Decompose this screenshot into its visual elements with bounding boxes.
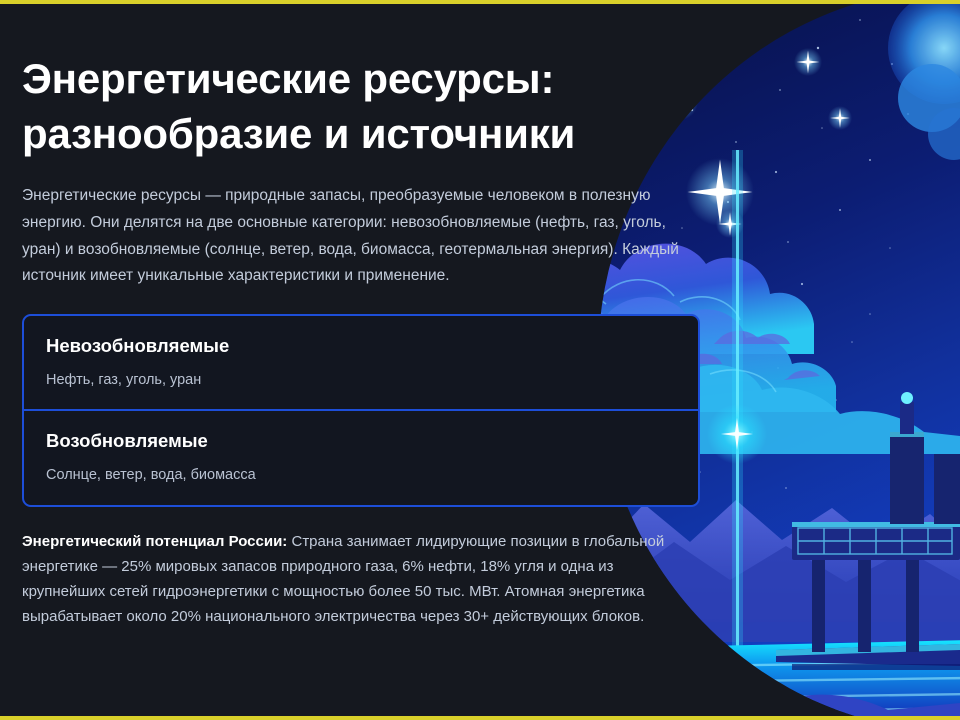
russia-potential-note: Энергетический потенциал России: Страна … <box>22 529 690 630</box>
category-items: Солнце, ветер, вода, биомасса <box>46 465 676 485</box>
content-column: Энергетические ресурсы: разнообразие и и… <box>22 0 712 720</box>
categories-card: Невозобновляемые Нефть, газ, уголь, уран… <box>22 314 700 507</box>
slide-root: Энергетические ресурсы: разнообразие и и… <box>0 0 960 720</box>
intro-paragraph: Энергетические ресурсы — природные запас… <box>22 183 686 290</box>
category-row-nonrenewable[interactable]: Невозобновляемые Нефть, газ, уголь, уран <box>24 316 698 409</box>
russia-potential-label: Энергетический потенциал России: <box>22 533 287 550</box>
bottom-accent-rule <box>0 716 960 720</box>
category-items: Нефть, газ, уголь, уран <box>46 370 676 390</box>
category-row-renewable[interactable]: Возобновляемые Солнце, ветер, вода, биом… <box>24 409 698 504</box>
category-heading: Невозобновляемые <box>46 335 676 357</box>
category-heading: Возобновляемые <box>46 430 676 452</box>
page-title: Энергетические ресурсы: разнообразие и и… <box>22 52 662 161</box>
top-accent-rule <box>0 0 960 4</box>
